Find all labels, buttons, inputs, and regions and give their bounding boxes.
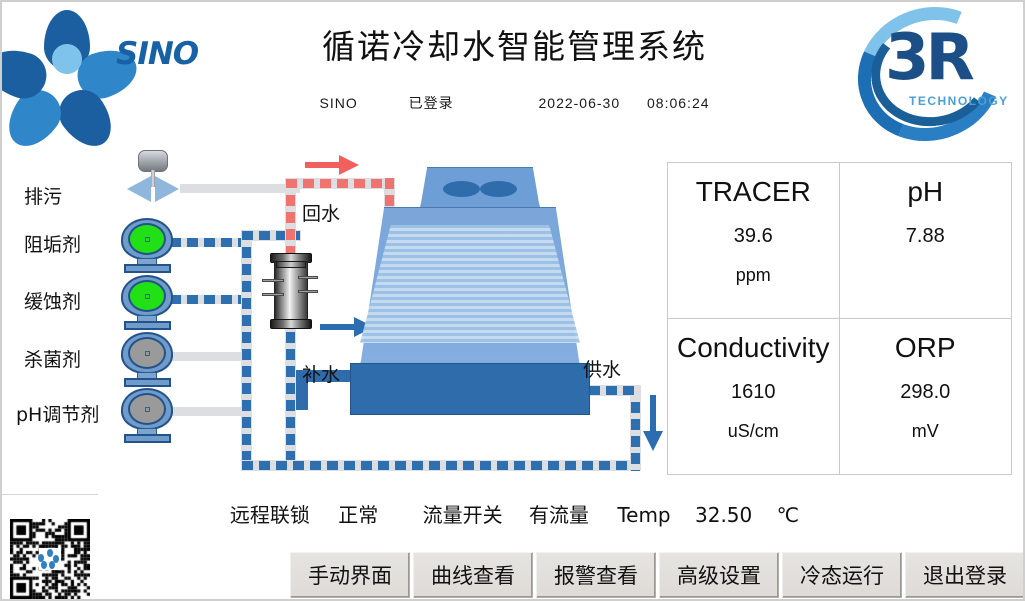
analyzer-flange-top bbox=[276, 261, 306, 268]
remote-interlock-value: 正常 bbox=[338, 499, 378, 528]
supply-flow-arrow bbox=[648, 395, 658, 451]
measurement-name: Conductivity bbox=[677, 330, 830, 365]
row-label-blowdown: 排污 bbox=[24, 182, 62, 209]
loop-right-riser bbox=[631, 385, 640, 471]
row-label-biocide: 杀菌剂 bbox=[24, 345, 81, 372]
pipe-biocide bbox=[170, 352, 250, 361]
label-supply-water: 供水 bbox=[583, 355, 621, 382]
pump-inhibitor[interactable] bbox=[115, 275, 179, 333]
analyzer-probe-4 bbox=[298, 290, 318, 293]
measurement-value: 39.6 bbox=[734, 225, 773, 248]
valve-actuator-icon bbox=[138, 150, 168, 172]
blowdown-valve[interactable] bbox=[119, 150, 189, 202]
header-status-line: SINO 已登录 2022-06-30 08:06:24 bbox=[2, 93, 1025, 113]
pump-shaft-icon bbox=[145, 351, 150, 356]
pipe-antiscalant bbox=[170, 238, 248, 247]
alarm-view-button[interactable]: 报警查看 bbox=[536, 552, 656, 598]
pump-shaft-icon bbox=[145, 237, 150, 242]
temp-unit: ℃ bbox=[777, 503, 799, 527]
pump-biocide[interactable] bbox=[115, 332, 179, 390]
measurement-value: 298.0 bbox=[900, 381, 950, 404]
label-return-water: 回水 bbox=[302, 199, 340, 226]
loop-bottom bbox=[242, 461, 640, 470]
hmi-screen: SINO 3R TECHNOLOGY 循诺冷却水智能管理系统 SINO 已登录 … bbox=[0, 0, 1025, 601]
measurement-cell-ph[interactable]: pH 7.88 bbox=[840, 163, 1012, 319]
loop-left-riser bbox=[242, 230, 251, 470]
header-date: 2022-06-30 bbox=[539, 95, 621, 111]
pump-base-icon bbox=[124, 434, 171, 443]
bottom-status-bar: 远程联锁 正常 流量开关 有流量 Temp 32.50 ℃ bbox=[2, 499, 1025, 528]
measurement-value: 7.88 bbox=[906, 225, 945, 248]
flow-switch-value: 有流量 bbox=[529, 499, 589, 528]
flow-switch-label: 流量开关 bbox=[423, 499, 503, 528]
pump-shaft-icon bbox=[145, 294, 150, 299]
measurement-value: 1610 bbox=[731, 381, 776, 404]
analyzer-bottom-cap bbox=[270, 319, 312, 329]
label-makeup-water: 补水 bbox=[302, 360, 340, 387]
fan-blades-icon bbox=[443, 181, 517, 197]
measurement-unit: ppm bbox=[736, 265, 771, 286]
row-label-inhibitor: 缓蚀剂 bbox=[24, 287, 81, 314]
loop-analyzer-riser bbox=[286, 332, 295, 470]
pipe-blowdown bbox=[180, 184, 300, 193]
tower-basin bbox=[350, 363, 590, 415]
temp-value: 32.50 bbox=[695, 503, 752, 527]
measurement-panel: TRACER 39.6 ppm pH 7.88 Conductivity 161… bbox=[667, 162, 1012, 475]
valve-body-right-icon bbox=[155, 176, 179, 202]
analyzer-probe-3 bbox=[298, 276, 318, 279]
pipe-inhibitor bbox=[170, 295, 248, 304]
measurement-cell-orp[interactable]: ORP 298.0 mV bbox=[840, 319, 1012, 475]
water-analyzer-chamber bbox=[264, 249, 318, 341]
return-riser bbox=[286, 178, 295, 254]
manual-interface-button[interactable]: 手动界面 bbox=[290, 552, 410, 598]
qr-center-logo bbox=[39, 548, 61, 570]
measurement-unit: uS/cm bbox=[728, 421, 779, 442]
analyzer-probe-2 bbox=[262, 293, 284, 296]
temp-label: Temp bbox=[617, 503, 670, 527]
tower-fill-louvers bbox=[360, 225, 580, 343]
valve-body-left-icon bbox=[127, 176, 151, 202]
cooling-tower bbox=[342, 167, 602, 422]
nav-button-bar: 手动界面 曲线查看 报警查看 高级设置 冷态运行 退出登录 bbox=[290, 552, 1025, 598]
page-title: 循诺冷却水智能管理系统 bbox=[2, 20, 1025, 68]
pump-base-icon bbox=[124, 321, 171, 330]
pipe-ph-adjuster bbox=[170, 407, 250, 416]
advanced-settings-button[interactable]: 高级设置 bbox=[659, 552, 779, 598]
row-label-ph-adjuster: pH调节剂 bbox=[16, 400, 99, 427]
header-login-status: 已登录 bbox=[409, 93, 454, 113]
measurement-name: pH bbox=[907, 174, 943, 209]
remote-interlock-label: 远程联锁 bbox=[230, 499, 310, 528]
analyzer-probe-1 bbox=[262, 279, 284, 282]
measurement-cell-conductivity[interactable]: Conductivity 1610 uS/cm bbox=[668, 319, 840, 475]
row-label-antiscalant: 阻垢剂 bbox=[24, 230, 81, 257]
pump-shaft-icon bbox=[145, 407, 150, 412]
measurement-name: ORP bbox=[895, 330, 956, 365]
header-username: SINO bbox=[319, 95, 357, 111]
measurement-cell-tracer[interactable]: TRACER 39.6 ppm bbox=[668, 163, 840, 319]
pump-antiscalant[interactable] bbox=[115, 218, 179, 276]
pump-ph-adjuster[interactable] bbox=[115, 388, 179, 446]
logout-button[interactable]: 退出登录 bbox=[905, 552, 1025, 598]
qr-code bbox=[10, 519, 90, 599]
cold-start-button[interactable]: 冷态运行 bbox=[782, 552, 902, 598]
trend-view-button[interactable]: 曲线查看 bbox=[413, 552, 533, 598]
pump-base-icon bbox=[124, 264, 171, 273]
measurement-unit: mV bbox=[912, 421, 939, 442]
header-time: 08:06:24 bbox=[647, 95, 710, 111]
pump-base-icon bbox=[124, 378, 171, 387]
measurement-name: TRACER bbox=[696, 174, 811, 209]
